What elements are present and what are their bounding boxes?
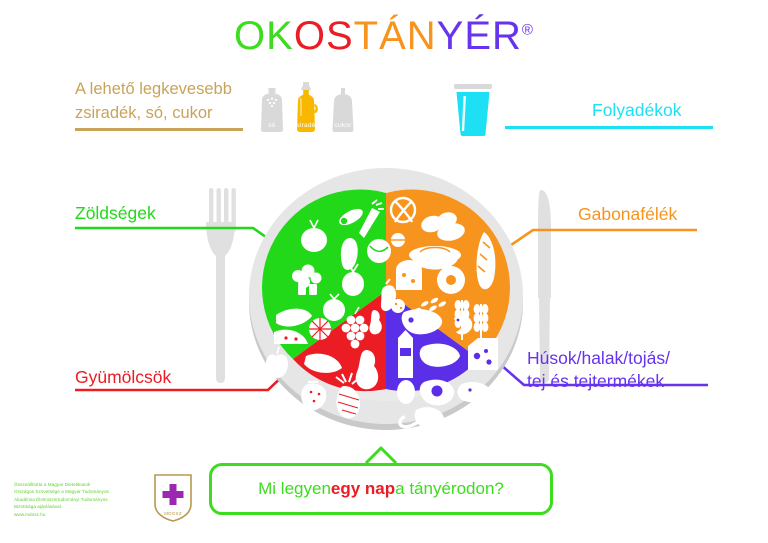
- fork-icon: [197, 188, 245, 383]
- title-segment-yer: YÉR: [437, 14, 522, 58]
- callout-pointer: [366, 448, 396, 463]
- title-segment-ok: OK: [234, 14, 294, 58]
- footer-line-2: Országos Szövetsége a Magyar Tudományos: [14, 488, 142, 495]
- fluids-label: Folyadékok: [592, 100, 682, 121]
- salt-shaker-icon: só: [259, 88, 285, 132]
- oil-bottle-icon: zsiradék: [291, 82, 321, 132]
- page-title: OKOSTÁNYÉR®: [0, 14, 768, 59]
- callout-suffix: a tányérodon?: [395, 479, 504, 499]
- minimise-note-rule: [75, 128, 243, 131]
- footer-line-3: Akadémia Élelmiszertudományi Tudományos: [14, 496, 142, 503]
- sugar-shaker-icon: cukor: [330, 88, 356, 132]
- title-segment-os: OS: [294, 14, 354, 58]
- mdosz-logo: MDOSZ: [150, 472, 196, 524]
- oil-bottle-label: zsiradék: [291, 122, 321, 129]
- salt-shaker-label: só: [259, 122, 285, 129]
- mdosz-logo-text: MDOSZ: [150, 511, 196, 516]
- grains-label: Gabonafélék: [578, 203, 677, 226]
- minimise-note-line2: zsiradék, só, cukor: [75, 102, 275, 126]
- protein-label: Húsok/halak/tojás/ tej és tejtermékek: [527, 347, 670, 393]
- footer-url[interactable]: www.mdosz.hu: [14, 511, 142, 518]
- protein-label-line2: tej és tejtermékek: [527, 370, 670, 393]
- vegetables-label: Zöldségek: [75, 202, 156, 225]
- title-segment-tan: TÁN: [354, 14, 437, 58]
- footer-line-1: Összeállította a Magyar Dietetikusok: [14, 481, 142, 488]
- infographic-root: OKOSTÁNYÉR® A lehető legkevesebb zsiradé…: [0, 0, 768, 543]
- minimise-note-line1: A lehető legkevesebb: [75, 78, 275, 102]
- plate-diagram: [246, 160, 526, 432]
- callout-text: Mi legyen egy nap a tányérodon?: [212, 466, 550, 512]
- registered-trademark-icon: ®: [522, 22, 534, 39]
- footer-line-4: Bizottsága ajánlásával.: [14, 503, 142, 510]
- callout-prefix: Mi legyen: [258, 479, 331, 499]
- fruits-label: Gyümölcsök: [75, 366, 171, 389]
- fluids-connector-line: [505, 126, 713, 129]
- protein-label-line1: Húsok/halak/tojás/: [527, 347, 670, 370]
- minimise-note: A lehető legkevesebb zsiradék, só, cukor: [75, 78, 275, 126]
- drinking-glass-icon: [451, 84, 495, 136]
- footer-credit: Összeállította a Magyar Dietetikusok Ors…: [14, 481, 142, 518]
- callout-box: Mi legyen egy nap a tányérodon?: [209, 463, 553, 515]
- callout-highlight: egy nap: [331, 479, 395, 499]
- sugar-shaker-label: cukor: [330, 122, 356, 129]
